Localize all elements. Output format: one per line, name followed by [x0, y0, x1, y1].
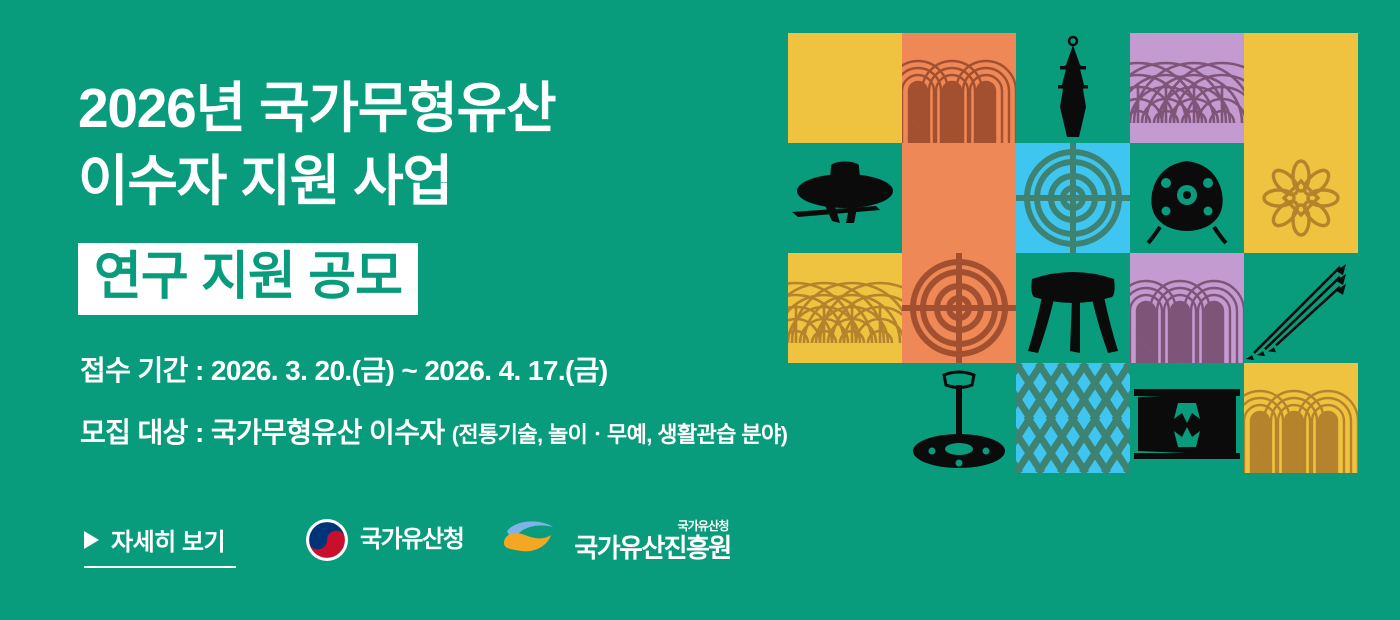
- logo-agency-label: 국가유산진흥원: [574, 535, 730, 561]
- pattern-motif-yellow-knot: [1244, 143, 1358, 253]
- pattern-motif-purple-arch: [1130, 253, 1244, 363]
- pattern-motif-blue-chevron: [1016, 363, 1130, 473]
- embroidered-pouch-silhouette: [1130, 143, 1244, 253]
- details-link-label: 자세히 보기: [111, 522, 225, 557]
- arrows-silhouette: [1244, 253, 1358, 363]
- target-audience: 모집 대상 : 국가무형유산 이수자 (전통기술, 놀이ㆍ무예, 생활관습 분야…: [80, 411, 787, 451]
- promo-banner: 2026년 국가무형유산 이수자 지원 사업 연구 지원 공모 접수 기간 : …: [0, 0, 1400, 620]
- logo-korea-heritage-service-label: 국가유산청: [360, 528, 463, 552]
- oil-lamp-stand-silhouette: [902, 363, 1016, 473]
- page-title: 2026년 국가무형유산 이수자 지원 사업: [78, 72, 555, 218]
- highlight-badge: 연구 지원 공모: [78, 243, 418, 315]
- logo-row: 국가유산청 국가유산청 국가유산진흥원: [305, 518, 731, 562]
- target-audience-text: 모집 대상 : 국가무형유산 이수자: [80, 417, 452, 448]
- logo-korea-heritage-agency[interactable]: 국가유산청 국가유산진흥원: [501, 519, 730, 561]
- logo-korea-heritage-service[interactable]: 국가유산청: [305, 518, 463, 562]
- pattern-motif-orange-medallion: [902, 253, 1016, 363]
- target-audience-fields: (전통기술, 놀이ㆍ무예, 생활관습 분야): [452, 422, 788, 447]
- details-link[interactable]: 자세히 보기: [84, 522, 236, 568]
- taegeuk-icon: [305, 518, 349, 562]
- pattern-motif-yellow-arch: [1244, 363, 1358, 473]
- pagoda-finial-silhouette: [1016, 33, 1130, 143]
- logo-korea-heritage-agency-text: 국가유산청 국가유산진흥원: [574, 520, 730, 561]
- janggu-drum-silhouette: [1130, 363, 1244, 473]
- pattern-motif-blue-medallion: [1016, 143, 1130, 253]
- swoosh-icon: [501, 519, 563, 561]
- application-period-text: 접수 기간 : 2026. 3. 20.(금) ~ 2026. 4. 17.(금…: [80, 355, 608, 386]
- play-triangle-icon: [84, 531, 99, 549]
- gat-hat-silhouette: [788, 143, 902, 253]
- pattern-motif-yellow-wave: [788, 253, 902, 363]
- highlight-label: 연구 지원 공모: [94, 249, 402, 305]
- logo-agency-parent-label: 국가유산청: [677, 520, 728, 532]
- pattern-motif-yellow-plain: [1244, 33, 1358, 143]
- application-period: 접수 기간 : 2026. 3. 20.(금) ~ 2026. 4. 17.(금…: [80, 349, 608, 389]
- pattern-motif-yellow-plain: [788, 33, 902, 143]
- wooden-stool-silhouette: [1016, 253, 1130, 363]
- pattern-motif-orange-arch: [902, 33, 1016, 143]
- pattern-motif-orange-plain: [902, 143, 1016, 253]
- heritage-pattern-grid: [788, 33, 1358, 483]
- pattern-motif-purple-wave: [1130, 33, 1244, 143]
